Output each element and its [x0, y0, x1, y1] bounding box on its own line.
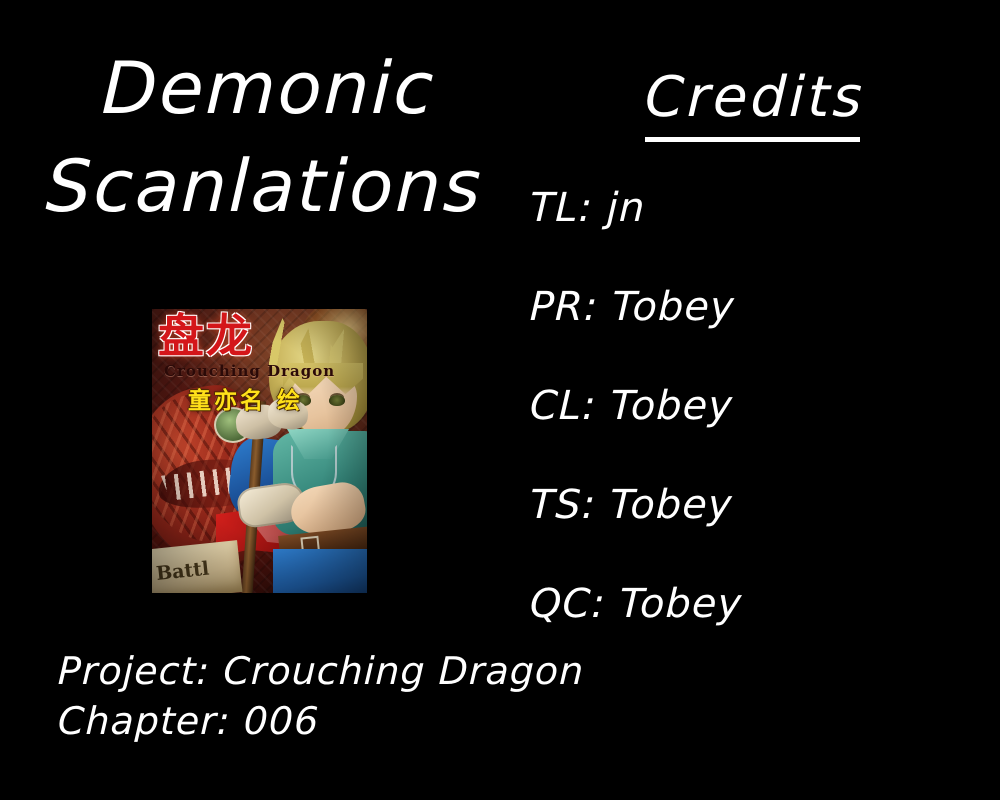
- cover-title-chinese: 盘龙: [158, 313, 254, 359]
- credits-heading-label: Credits: [644, 70, 866, 126]
- project-line: Project: Crouching Dragon: [57, 652, 585, 690]
- project-meta: Project: Crouching Dragon Chapter: 006: [58, 652, 584, 752]
- credit-entry-qc: QC: Tobey: [529, 584, 743, 624]
- group-title-line2: Scanlations: [45, 150, 488, 222]
- credit-entry-tl: TL: jn: [529, 188, 646, 228]
- credit-row: QC: Tobey: [530, 584, 950, 683]
- credits-list: TL: jn PR: Tobey CL: Tobey TS: Tobey QC:…: [530, 188, 950, 683]
- credit-entry-pr: PR: Tobey: [529, 287, 735, 327]
- credit-row: CL: Tobey: [530, 386, 950, 485]
- credit-row: TS: Tobey: [530, 485, 950, 584]
- cover-artwork: Battl 盘龙 Crouching Dragon 童亦名 绘: [152, 309, 367, 593]
- credit-entry-cl: CL: Tobey: [529, 386, 733, 426]
- credit-entry-ts: TS: Tobey: [529, 485, 733, 525]
- chapter-line: Chapter: 006: [57, 702, 585, 740]
- group-title: Demonic Scanlations: [46, 52, 486, 222]
- manga-cover-image: Battl 盘龙 Crouching Dragon 童亦名 绘: [152, 309, 367, 593]
- cover-artist-credit: 童亦名 绘: [188, 381, 303, 415]
- cover-title-english: Crouching Dragon: [164, 362, 335, 380]
- credit-row: PR: Tobey: [530, 287, 950, 386]
- credit-row: TL: jn: [530, 188, 950, 287]
- group-title-line1: Demonic: [101, 52, 488, 124]
- credits-heading: Credits: [645, 70, 865, 126]
- credits-heading-underline: [645, 137, 860, 142]
- credits-page: Demonic Scanlations Credits TL: jn PR: T…: [0, 0, 1000, 800]
